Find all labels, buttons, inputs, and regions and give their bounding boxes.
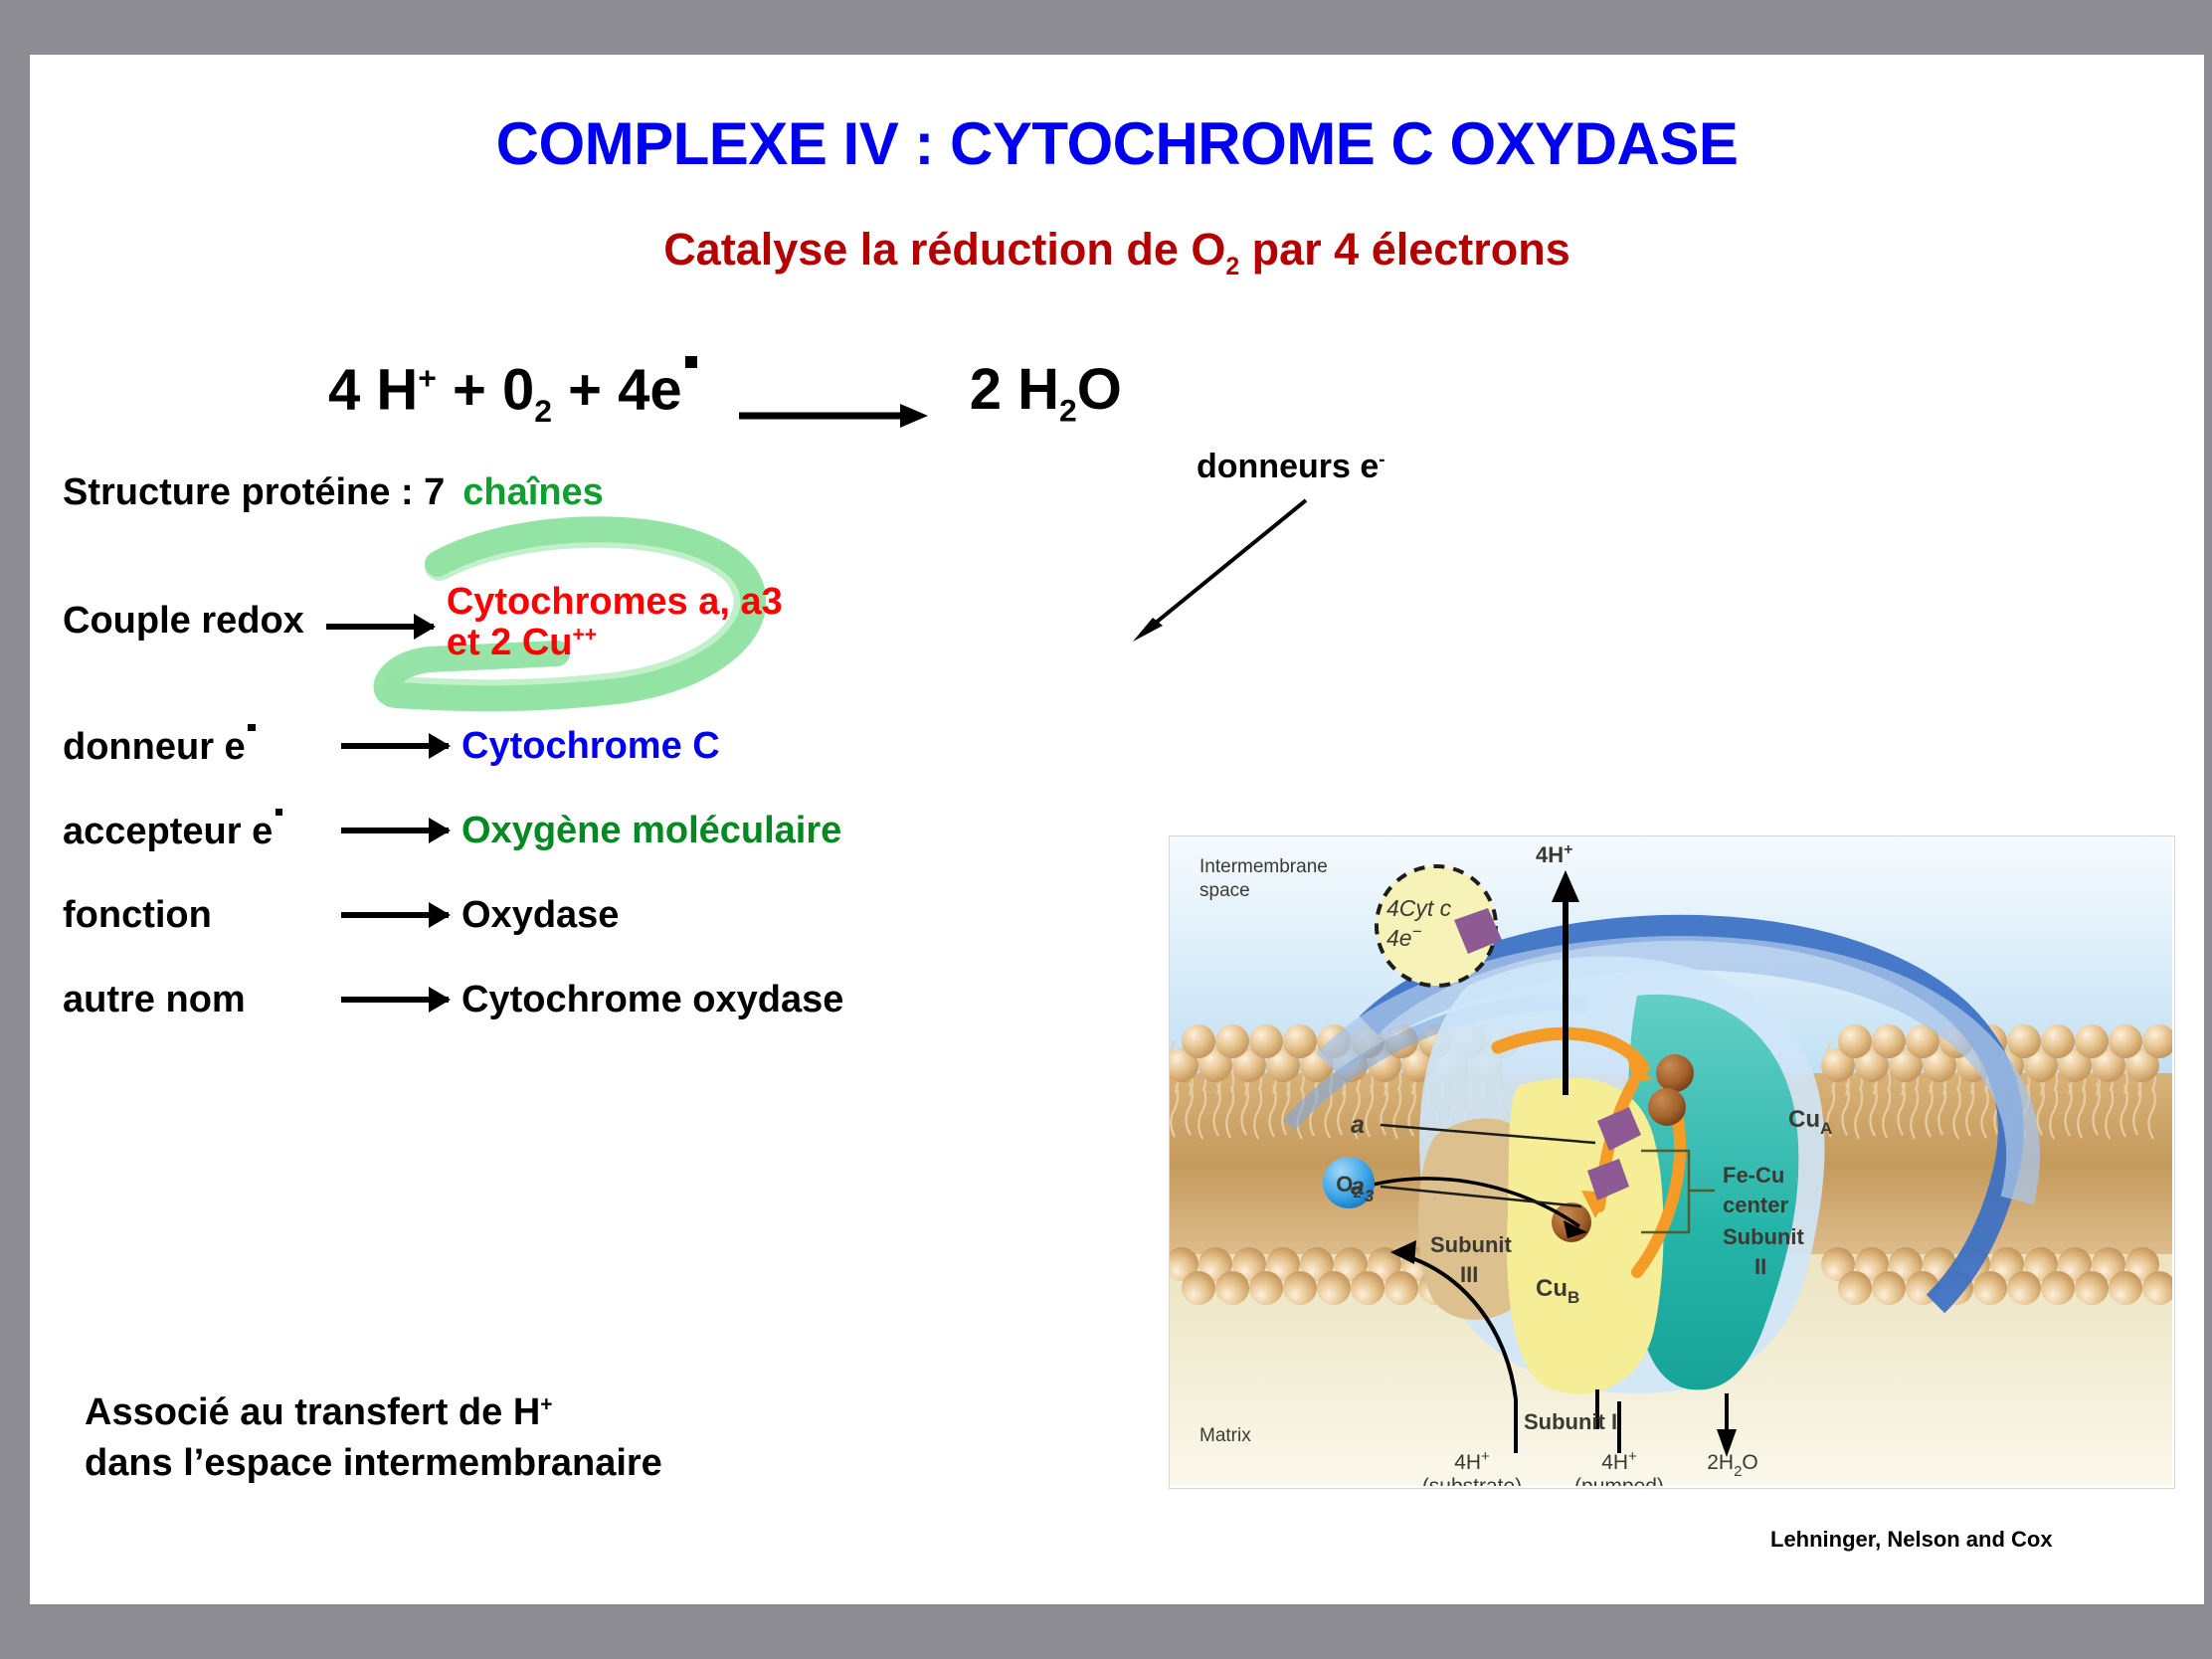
list-value-donneur: Cytochrome C [461,725,720,768]
equation-reactants: 4 H+ + 02 + 4e [328,356,697,430]
figure-label-4h-pumped: 4H [1601,1451,1628,1474]
list-term-donneur: donneur e [63,724,311,769]
list-term-accepteur: accepteur e [63,809,311,853]
equation-h-coeff: 4 H [328,357,418,422]
equation-electron-charge-icon [685,356,697,368]
figure-label-4h-substrate-charge: + [1481,1448,1490,1465]
list-value-structure: chaînes [462,471,604,514]
figure-label-2h2o-tail: O [1742,1451,1757,1474]
list-term-couple-redox: Couple redox [63,582,304,659]
equation-h-charge: + [418,360,437,396]
list-row-autre-nom: autre nom Cytochrome oxydase [63,970,843,1029]
equation-o2-subscript: 2 [534,393,552,429]
equation-o2: 0 [502,357,534,422]
list-term-donneur-charge-icon [248,724,256,732]
figure-label-4h-top: 4H [1536,842,1564,867]
list-term-accepteur-charge-icon [276,809,283,817]
figure-label-heme-a: a [1351,1111,1365,1139]
list-value-autre-nom: Cytochrome oxydase [461,979,843,1021]
footer-note-line2: dans l’espace intermembranaire [85,1438,662,1489]
figure-label-intermembrane-2: space [1199,880,1250,901]
list-value-couple-redox-line2: et 2 Cu++ [447,623,783,663]
equation-electrons: 4e [618,357,682,422]
figure-label-subunit-ii-2: II [1754,1254,1766,1279]
figure-label-cyt-c-1: 4Cyt c [1386,895,1452,921]
list-row-couple-redox: Couple redox Cytochromes a, a3 et 2 Cu++ [63,582,783,691]
figure-label-subunit-iii-2: III [1460,1262,1478,1287]
list-value-cu-text: et 2 Cu [447,622,573,663]
figure-label-cu-a: Cu [1788,1106,1820,1133]
arrow-icon-fonction [341,902,456,928]
footer-note-line1-text: Associé au transfert de H [85,1391,540,1433]
list-row-structure: Structure protéine : 7 chaînes [63,462,604,522]
list-value-fonction: Oxydase [461,894,619,937]
equation-plus-1: + [437,357,502,422]
figure-label-cyt-c-2: 4e [1386,925,1412,951]
reaction-equation: 4 H+ + 02 + 4e 2 H2O [328,338,1522,448]
equation-plus-2: + [552,357,618,422]
figure-label-4h-substrate: 4H [1454,1451,1481,1474]
equation-arrow-icon [739,378,928,408]
subtitle-text-a: Catalyse la réduction de O [663,224,1225,275]
footer-note: Associé au transfert de H+ dans l’espace… [85,1387,662,1490]
figure-label-2h2o-sub: 2 [1734,1463,1742,1480]
slide-canvas: COMPLEXE IV : CYTOCHROME C OXYDASE Catal… [30,55,2204,1604]
arrow-icon-donneur [341,733,456,759]
figure-label-cyt-c-2-charge: − [1412,922,1422,941]
page-title: COMPLEXE IV : CYTOCHROME C OXYDASE [30,109,2204,178]
list-term-donneur-text: donneur e [63,725,246,767]
figure-label-fe-cu-2: center [1723,1193,1788,1217]
figure-label-heme-a3-sub: 3 [1365,1187,1375,1205]
figure-label-4h-top-charge: + [1564,841,1572,858]
figure-label-cu-b: Cu [1536,1275,1567,1302]
equation-water-subscript: 2 [1059,393,1077,429]
list-row-accepteur: accepteur e Oxygène moléculaire [63,801,841,860]
figure-label-subunit-iii-1: Subunit [1430,1232,1513,1257]
figure-label-substrate: (substrate) [1422,1475,1522,1486]
arrow-icon-accepteur [341,818,456,843]
mitochondrial-membrane-diagram: O2 Intermembrane space Matrix [1169,835,2175,1489]
footer-note-line1: Associé au transfert de H+ [85,1387,662,1438]
list-term-autre-nom: autre nom [63,979,311,1021]
figure-label-matrix: Matrix [1199,1425,1251,1446]
subtitle-text-b: par 4 électrons [1239,224,1570,275]
figure-label-cu-a-sub: A [1820,1119,1832,1138]
equation-products: 2 H2O [970,356,1122,430]
list-value-cu-charge: ++ [573,623,597,645]
figure-label-cu-b-sub: B [1567,1288,1579,1307]
list-term-fonction: fonction [63,894,311,937]
list-value-couple-redox-line1: Cytochromes a, a3 [447,582,783,623]
list-row-fonction: fonction Oxydase [63,885,619,945]
figure-label-2h2o: 2H [1707,1451,1734,1474]
list-value-couple-redox: Cytochromes a, a3 et 2 Cu++ [447,582,783,663]
list-row-donneur: donneur e Cytochrome C [63,716,720,776]
figure-label-fe-cu-1: Fe-Cu [1723,1163,1784,1188]
arrow-icon-autre-nom [341,987,456,1013]
equation-water-coeff: 2 H [970,357,1059,422]
equation-water-tail: O [1077,357,1122,422]
arrow-icon-couple-redox [326,614,441,640]
figure-label-heme-a3: a [1351,1173,1365,1200]
figure-label-pumped: (pumped) [1574,1475,1664,1486]
figure-label-4h-pumped-charge: + [1628,1448,1637,1465]
figure-label-subunit-ii-1: Subunit [1723,1224,1805,1249]
list-value-accepteur: Oxygène moléculaire [461,810,841,852]
figure-label-subunit-i: Subunit I [1524,1409,1617,1434]
callout-arrow-icon [1119,492,1318,651]
callout-label-donneurs: donneurs e- [1197,448,1384,486]
list-term-accepteur-text: accepteur e [63,810,273,851]
page-subtitle: Catalyse la réduction de O2 par 4 électr… [30,224,2204,281]
subtitle-subscript: 2 [1225,254,1239,280]
callout-label-text: donneurs e [1197,448,1379,485]
callout-label-charge: - [1379,449,1384,469]
figure-credit: Lehninger, Nelson and Cox [1770,1527,2053,1553]
footer-note-h-charge: + [540,1392,552,1415]
figure-label-intermembrane-1: Intermembrane [1199,856,1328,877]
list-term-structure: Structure protéine : 7 [63,471,445,514]
